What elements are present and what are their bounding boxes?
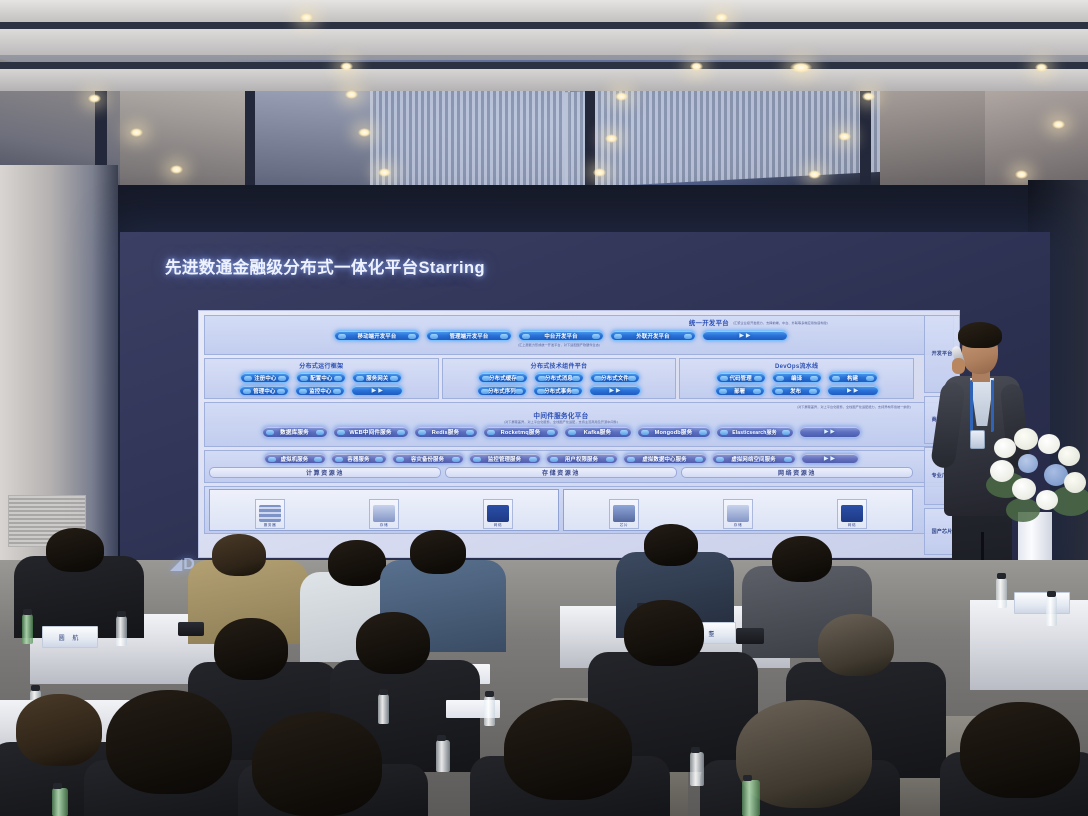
pill-dr-backup-service[interactable]: 容灾备份服务 (392, 453, 464, 464)
pill-rocketmq-service[interactable]: Rocketmq服务 (483, 426, 559, 438)
attendee-head (214, 618, 288, 680)
layer-distributed-runtime: 分布式运行框架 注册中心 配置中心 服务网关 管理中心 监控中心 ▶ ▶ (204, 358, 439, 399)
name-card: 圆 航 (42, 626, 98, 648)
attendee-head (410, 530, 466, 574)
pill-web-middleware-service[interactable]: WEB中间件服务 (333, 426, 409, 438)
pill-admin-dev-platform[interactable]: 管理端开发平台 (426, 330, 512, 341)
water-bottle (378, 694, 389, 724)
pill-kafka-service[interactable]: Kafka服务 (564, 426, 632, 438)
pool-compute: 计算资源池 (209, 467, 441, 478)
foliage (1006, 498, 1040, 522)
ceiling-vent (370, 82, 570, 195)
water-bottle (742, 780, 760, 816)
hw-label: 网络 (848, 523, 856, 528)
hw-label: 存储 (380, 523, 388, 528)
water-bottle (996, 578, 1007, 608)
pill-distributed-sequence[interactable]: 分布式序列 (477, 385, 527, 396)
ceiling-band (0, 29, 1088, 55)
hw-label: 芯片 (620, 523, 628, 528)
white-rose (1012, 478, 1036, 500)
ceiling-spotlight (1035, 63, 1048, 72)
pill-config-center[interactable]: 配置中心 (296, 372, 346, 383)
layer-note: (汇聚企业级开发能力，支撑前端、中台、外联等多端应用快速构建) (733, 321, 913, 325)
hw-group-domestic-servers: 服务器 存储 网络 (209, 489, 559, 531)
server-icon (259, 505, 281, 522)
attendee-head (16, 694, 102, 766)
water-bottle (116, 616, 127, 646)
pill-more-middleware[interactable]: ▶ ▶ (799, 426, 861, 438)
pill-compile[interactable]: 编译 (772, 372, 822, 383)
white-rose (1014, 428, 1038, 450)
pill-mongodb-service[interactable]: Mongodb服务 (637, 426, 711, 438)
ceiling-spotlight (690, 62, 703, 71)
attendee-head (106, 690, 232, 794)
layer-unified-dev-platform: 统一开发平台 (汇聚企业级开发能力，支撑前端、中台、外联等多端应用快速构建) 移… (204, 315, 954, 355)
ceiling-strip (245, 83, 255, 200)
layer-title: 分布式运行框架 (207, 361, 436, 370)
device (178, 622, 204, 636)
pill-virtual-datacenter-service[interactable]: 虚拟数据中心服务 (623, 453, 707, 464)
layer-note: (对下屏蔽差异，对上平台化服务，全栈国产化适配，支持主流商用及开源中间件) (209, 420, 913, 424)
hw-tile-chip: 芯片 (609, 499, 639, 529)
presenter-hair (958, 322, 1002, 348)
ceiling-band (0, 0, 1088, 22)
ceiling-spotlight (130, 128, 143, 137)
layer-title: 分布式技术组件平台 (445, 361, 674, 370)
pill-build[interactable]: 构建 (828, 372, 878, 383)
layer-devops-pipeline: DevOps流水线 代码管理 编译 构建 部署 发布 ▶ ▶ (679, 358, 914, 399)
pill-more-runtime[interactable]: ▶ ▶ (351, 385, 403, 396)
architecture-slide: 统一开发平台 (汇聚企业级开发能力，支撑前端、中台、外联等多端应用快速构建) 移… (198, 310, 960, 558)
ceiling-spotlight (1052, 120, 1065, 129)
name-card-text: 圆 航 (43, 633, 97, 642)
pill-database-service[interactable]: 数据库服务 (262, 426, 328, 438)
ceiling-spotlight (593, 168, 606, 177)
ceiling-reveal (0, 22, 1088, 29)
pill-more-components[interactable]: ▶ ▶ (589, 385, 641, 396)
pill-deploy[interactable]: 部署 (715, 385, 765, 396)
ceiling-spotlight (378, 168, 391, 177)
hw-label: 网络 (494, 523, 502, 528)
ceiling (0, 0, 1088, 200)
white-rose (1064, 472, 1086, 493)
attendee-head (624, 600, 704, 666)
hw-label: 服务器 (264, 523, 277, 528)
ceiling-band (0, 69, 1088, 91)
layer-title: DevOps流水线 (682, 361, 911, 370)
hw-label: 存储 (734, 523, 742, 528)
white-rose (990, 460, 1014, 482)
ceiling-spotlight (88, 94, 101, 103)
projection-screen: 先进数通金融级分布式一体化平台Starring 统一开发平台 (汇聚企业级开发能… (120, 232, 1050, 572)
ceiling-spotlight (1015, 170, 1028, 179)
pill-more-devops[interactable]: ▶ ▶ (827, 385, 879, 396)
pool-network: 网络资源池 (681, 467, 913, 478)
hw-tile-storage-2: 存储 (723, 499, 753, 529)
layer-title: 统一开发平台 (689, 318, 729, 327)
layer-hardware-infrastructure: 服务器 存储 网络 芯片 (204, 486, 954, 534)
hw-tile-network-2: 网络 (837, 499, 867, 529)
pill-monitoring-mgmt-service[interactable]: 监控管理服务 (469, 453, 541, 464)
ceiling-spotlight (862, 92, 875, 101)
network-icon (487, 505, 509, 522)
ceiling-spotlight (605, 134, 618, 143)
ceiling-spotlight (300, 13, 313, 22)
hw-tile-storage: 存储 (369, 499, 399, 529)
presenter-badge (970, 430, 985, 449)
water-bottle (52, 788, 68, 816)
network-icon (841, 505, 863, 522)
water-bottle (484, 696, 495, 726)
name-card (1014, 592, 1070, 614)
chip-icon (613, 505, 635, 522)
ceiling-spotlight (715, 13, 728, 22)
attendee-head (46, 528, 104, 572)
pill-more-dev[interactable]: ▶ ▶ (702, 330, 788, 341)
layer-group-middle: 分布式运行框架 注册中心 配置中心 服务网关 管理中心 监控中心 ▶ ▶ 分布式… (204, 358, 954, 399)
pill-service-gateway[interactable]: 服务网关 (352, 372, 402, 383)
pill-distributed-transaction[interactable]: 分布式事务 (533, 385, 583, 396)
layer-title: 中间件服务化平台 (533, 410, 588, 420)
pill-elasticsearch-service[interactable]: Elasticsearch服务 (716, 426, 794, 438)
hw-tile-server: 服务器 (255, 499, 285, 529)
storage-icon (727, 505, 749, 522)
slide-title: 先进数通金融级分布式一体化平台Starring (165, 254, 485, 278)
pill-container-service[interactable]: 容器服务 (331, 453, 387, 464)
presenter-hand (952, 358, 965, 374)
pill-mobile-dev-platform[interactable]: 移动端开发平台 (334, 330, 420, 341)
hw-group-domestic-chips: 芯片 存储 网络 (563, 489, 913, 531)
attendee-head (328, 540, 386, 586)
pill-virtual-network-service[interactable]: 虚拟网络空间服务 (712, 453, 796, 464)
pill-management-center[interactable]: 管理中心 (239, 385, 289, 396)
layer-distributed-tech-components: 分布式技术组件平台 分布式缓存 分布式消息 分布式文件 分布式序列 分布式事务 … (442, 358, 677, 399)
pill-external-dev-platform[interactable]: 外联开发平台 (610, 330, 696, 341)
storage-icon (373, 505, 395, 522)
conference-photo-scene: 先进数通金融级分布式一体化平台Starring 统一开发平台 (汇聚企业级开发能… (0, 0, 1088, 816)
attendee-head (644, 524, 698, 566)
ceiling-vent (565, 76, 885, 189)
pill-code-management[interactable]: 代码管理 (716, 372, 766, 383)
layer-middleware-service-platform: (对下屏蔽差异，对上平台化服务，全栈国产化适配能力，支持异构环境统一纳管) 中间… (204, 402, 954, 447)
attendee-head (252, 712, 382, 816)
attendee-head (818, 614, 894, 676)
pill-user-permission-service[interactable]: 用户权限服务 (546, 453, 618, 464)
ceiling-spotlight (838, 132, 851, 141)
white-rose (1036, 490, 1058, 510)
device (736, 628, 764, 644)
pill-registry-center[interactable]: 注册中心 (240, 372, 290, 383)
ceiling-spotlight (615, 92, 628, 101)
pill-distributed-file[interactable]: 分布式文件 (590, 372, 640, 383)
floral-arrangement (988, 420, 1088, 540)
attendee-head (772, 536, 832, 582)
blue-hydrangea (1018, 454, 1038, 473)
pill-distributed-cache[interactable]: 分布式缓存 (478, 372, 528, 383)
attendee-head (356, 612, 430, 674)
pill-redis-service[interactable]: Redis服务 (414, 426, 478, 438)
ceiling-spotlight (808, 170, 821, 179)
attendee-head (960, 702, 1080, 798)
pool-storage: 存储资源池 (445, 467, 677, 478)
water-bottle (690, 752, 704, 786)
layer-virtualization: 虚拟机服务 容器服务 容灾备份服务 监控管理服务 用户权限服务 虚拟数据中心服务… (204, 450, 954, 483)
slide-note-mid: (对下屏蔽差异，对上平台化服务，全栈国产化适配能力，支持异构环境统一纳管) (209, 405, 913, 409)
water-bottle (436, 740, 450, 772)
white-rose (1038, 434, 1060, 454)
ceiling-smoke-detector (790, 62, 812, 73)
ceiling-spotlight (358, 128, 371, 137)
pill-midplatform-dev-platform[interactable]: 中台开发平台 (518, 330, 604, 341)
pill-distributed-message[interactable]: 分布式消息 (534, 372, 584, 383)
pill-more-virtualization[interactable]: ▶ ▶ (801, 453, 859, 464)
slide-note-top: (汇上层能力形成统一开发平台，对下适配国产软硬件生态) (209, 343, 913, 347)
ceiling-spotlight (170, 165, 183, 174)
white-rose (994, 438, 1016, 458)
ceiling-spotlight (345, 90, 358, 99)
attendee-head (504, 700, 632, 800)
white-rose (1058, 446, 1080, 466)
ceiling-strip (585, 84, 595, 196)
attendee-head (212, 534, 266, 576)
pill-vm-service[interactable]: 虚拟机服务 (264, 453, 326, 464)
water-bottle (22, 614, 33, 644)
ceiling-reveal (0, 62, 1088, 69)
pill-monitoring-center[interactable]: 监控中心 (295, 385, 345, 396)
water-bottle (1046, 596, 1057, 626)
ceiling-spotlight (340, 62, 353, 71)
hw-tile-network: 网络 (483, 499, 513, 529)
pill-release[interactable]: 发布 (771, 385, 821, 396)
